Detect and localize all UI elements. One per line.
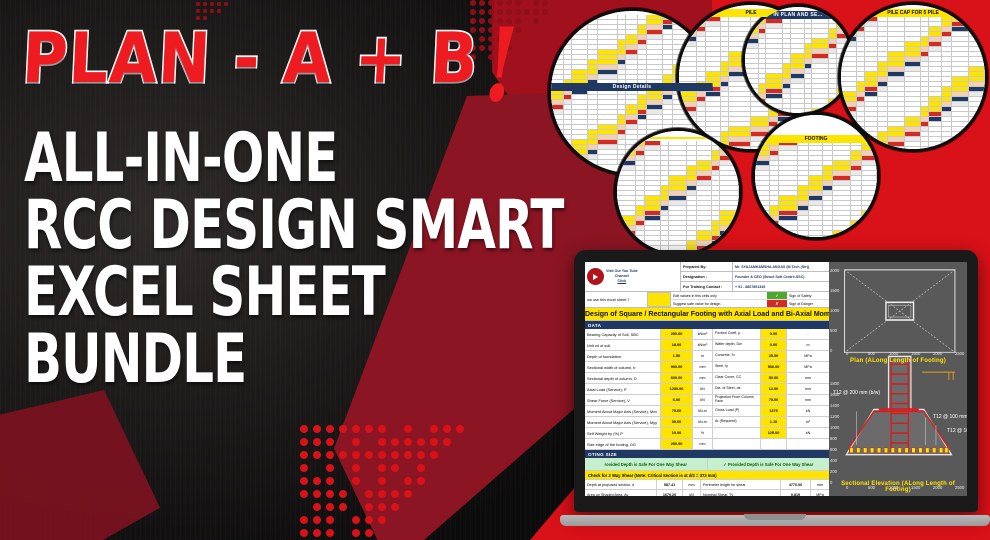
row-value[interactable]: 1.50 — [661, 351, 693, 361]
safety-label: Sign of Safety — [787, 294, 811, 298]
table-row: Axial Load (Service), P1250.00kNDia. of … — [585, 384, 829, 395]
shear-unit-2: mm — [811, 480, 829, 489]
note-legend: Edit values in this cells only Suggest s… — [671, 292, 767, 307]
row-value-2[interactable]: 125.00 — [761, 428, 787, 438]
row-value[interactable]: 1250.00 — [661, 384, 693, 394]
row-label-2: Concrete, f'c — [713, 351, 761, 361]
row-unit: % — [693, 428, 713, 438]
shear-value: 1679.20 — [657, 490, 683, 496]
row-label-2: Projection From Column Face — [713, 395, 761, 405]
table-row: Sectional width of column, b900.00mmStee… — [585, 362, 829, 373]
worksheet-title: Design of Square / Rectangular Footing w… — [585, 308, 829, 321]
table-row: Unit wt of soil,18.00kN/m³Water depth, D… — [585, 340, 829, 351]
table-row: For Training Contact : + 91 - 8807891345 — [681, 282, 829, 291]
row-unit: mm — [693, 373, 713, 383]
row-label-2: Friction Coeff, μ — [713, 329, 761, 339]
title-line-3: EXCEL SHEET — [24, 261, 488, 325]
axis-tick: 200 — [830, 469, 837, 474]
thumbnail-in-plan-section: IN PLAN AND SE... — [742, 4, 854, 116]
row-label-2: Gross Load (P) — [713, 406, 761, 416]
row-label: Size edge of the footing, DG — [585, 439, 661, 449]
youtube-icon — [587, 268, 604, 285]
row-label-2: Dia. of Steel, ds — [713, 384, 761, 394]
row-label: Unit wt of soil, — [585, 340, 661, 350]
row-value-2[interactable] — [761, 439, 787, 449]
row-label: Self Weight by (%) P — [585, 428, 661, 438]
row-value[interactable]: 30.00 — [661, 417, 693, 427]
axis-tick: 800 — [830, 436, 837, 441]
section-header-footing-size: OTING SIZE — [585, 450, 829, 458]
status-badge: ✓ Provided Depth is Safe For One Way She… — [708, 458, 830, 470]
table-row: Designation : Founder & CEO (Struct Soft… — [681, 272, 829, 282]
axis-tick: 1000 — [830, 425, 839, 430]
row-value[interactable]: 10.00 — [661, 428, 693, 438]
check-icon: ✓ — [767, 292, 787, 299]
table-row: Depth of foundation1.50mConcrete, f'c25.… — [585, 351, 829, 362]
row-value[interactable]: 900.00 — [661, 362, 693, 372]
row-label: Axial Load (Service), P — [585, 384, 661, 394]
row-value-2[interactable]: 1375 — [761, 406, 787, 416]
section-header-data: DATA — [585, 321, 829, 329]
row-label-2 — [713, 428, 761, 438]
danger-label: Sign of Danger — [787, 302, 813, 306]
axis-tick: 2000 — [933, 485, 942, 490]
row-label-2: Steel, fy — [713, 362, 761, 372]
axis-tick: 1500 — [830, 288, 839, 293]
youtube-promo-cell[interactable]: Visit Our You Tube Channel Click — [585, 262, 681, 291]
table-row: Moment About Major Axis (Service), Myy30… — [585, 417, 829, 428]
row-unit-2: mm — [787, 373, 829, 383]
row-value[interactable]: 6.00 — [661, 395, 693, 405]
headline-plan-ab: PLAN - A + B — [21, 24, 480, 93]
plan-label: Plan (ALong Length of Footing) — [829, 358, 967, 364]
shear-label: Area on Shaded Area, Av — [585, 490, 657, 496]
axis-tick: 2500 — [955, 351, 964, 356]
row-value-2[interactable]: 50.00 — [761, 373, 787, 383]
axis-tick: 0 — [846, 351, 848, 356]
usage-question: ow use this excel sheet ? — [585, 292, 647, 307]
row-value-2[interactable]: 0.00 — [761, 340, 787, 350]
row-label: Bearing Capacity of Soil, SBC — [585, 329, 661, 339]
danger-legend: ✗ Sign of Danger — [767, 300, 829, 307]
excel-header-row: Visit Our You Tube Channel Click Prepare… — [585, 262, 829, 292]
shear-value-2: 4770.00 — [781, 480, 811, 489]
row-value-2[interactable]: 12.00 — [761, 384, 787, 394]
axis-tick: 2500 — [955, 485, 964, 490]
row-label: Sectional depth of column, D — [585, 373, 661, 383]
table-row: Depth at proposed section, d587.41mmPeri… — [585, 480, 829, 490]
prepared-by-label: Prepared By: — [681, 262, 733, 271]
shear-label: Depth at proposed section, d — [585, 480, 657, 489]
rebar-note-2: T12 @ 100 mm — [933, 414, 967, 420]
row-label-2: Clear Cover, CC — [713, 373, 761, 383]
designation-label: Designation : — [681, 272, 733, 281]
row-value-2[interactable]: 1.10 — [761, 417, 787, 427]
input-data-table[interactable]: Bearing Capacity of Soil, SBC250.00kN/m²… — [585, 329, 829, 450]
row-value-2[interactable]: 25.00 — [761, 351, 787, 361]
row-unit-2: kN — [787, 428, 829, 438]
table-row: Sectional depth of column, D600.00mmClea… — [585, 373, 829, 384]
cad-drawing-pane: Plan (ALong Length of Footing) Sectional… — [829, 262, 967, 496]
laptop-screen: Visit Our You Tube Channel Click Prepare… — [585, 262, 967, 496]
row-value[interactable]: 18.00 — [661, 340, 693, 350]
shear-unit: mm — [683, 480, 701, 489]
contact-label: For Training Contact : — [681, 282, 733, 291]
axis-tick: 1000 — [889, 351, 898, 356]
exclamation-mark: ! — [484, 16, 518, 117]
axis-tick: 1200 — [830, 414, 839, 419]
row-unit: mm — [693, 362, 713, 372]
row-unit: kN/m³ — [693, 340, 713, 350]
row-label: Moment About Major Axis (Service), Mxx — [585, 406, 661, 416]
table-row: Area on Shaded Area, Av1679.20kNNominal … — [585, 490, 829, 496]
excel-worksheet[interactable]: Visit Our You Tube Channel Click Prepare… — [585, 262, 829, 496]
row-unit-2: m — [787, 340, 829, 350]
laptop-lid: Visit Our You Tube Channel Click Prepare… — [574, 250, 978, 512]
editable-cell-swatch[interactable] — [647, 292, 671, 307]
axis-tick: 0 — [830, 480, 832, 485]
axis-tick: 500 — [868, 351, 875, 356]
laptop-trackpad-notch — [744, 514, 806, 520]
axis-tick: 1000 — [889, 485, 898, 490]
axis-tick: 500 — [830, 328, 837, 333]
thumbnail-bottom-center — [614, 128, 742, 256]
row-value[interactable]: 250.00 — [661, 329, 693, 339]
row-unit: mm — [693, 439, 713, 449]
row-label-2: Water depth, Dw — [713, 340, 761, 350]
axis-tick: 600 — [830, 447, 837, 452]
axis-tick: 500 — [868, 485, 875, 490]
row-unit-2: MPa — [787, 362, 829, 372]
halftone-dots-bottom — [300, 425, 490, 540]
row-unit: kN-m — [693, 417, 713, 427]
axis-tick: 0 — [830, 348, 832, 353]
promotional-banner: PLAN - A + B ! ALL-IN-ONE RCC DESIGN SMA… — [0, 0, 990, 540]
row-unit: kN — [693, 384, 713, 394]
status-badge: rovided Depth is Safe For One Way Shear — [585, 458, 708, 470]
prepared-by-block: Prepared By: Mr. SYAJAMKAMSHA ANGAS (M.T… — [681, 262, 829, 291]
row-unit: m — [693, 351, 713, 361]
designation-value: Founder & CEO (Struct Soft Centre-SSC) — [733, 275, 829, 279]
shear-unit: kN — [683, 490, 701, 496]
row-value-2[interactable]: 0.00 — [761, 329, 787, 339]
two-way-shear-header: Check for 2 Way Shear (Note: Critical Se… — [585, 471, 829, 480]
row-value[interactable]: 75.00 — [661, 406, 693, 416]
contact-value: + 91 - 8807891345 — [733, 285, 829, 289]
row-label-2: Ar (Required) — [713, 417, 761, 427]
row-value[interactable]: 250.00 — [661, 439, 693, 449]
safety-legend: ✓ Sign of Safety — [767, 292, 829, 300]
axis-tick: 0 — [846, 485, 848, 490]
youtube-click-link[interactable]: Click — [606, 279, 638, 284]
table-row: Prepared By: Mr. SYAJAMKAMSHA ANGAS (M.T… — [681, 262, 829, 272]
row-label: Moment About Major Axis (Service), Myy — [585, 417, 661, 427]
row-unit-2: - — [787, 329, 829, 339]
row-value-2[interactable]: 75.00 — [761, 395, 787, 405]
axis-tick: 1400 — [830, 403, 839, 408]
row-value[interactable]: 600.00 — [661, 373, 693, 383]
axis-tick: 1500 — [911, 485, 920, 490]
row-unit: kN — [693, 395, 713, 405]
axis-tick: 1500 — [911, 351, 920, 356]
axis-tick: 2000 — [830, 268, 839, 273]
shear-unit-2: MPa — [811, 490, 829, 496]
row-unit: kN-m — [693, 406, 713, 416]
row-unit-2: MPa — [787, 351, 829, 361]
axis-tick: 1800 — [830, 381, 839, 386]
axis-tick: 2000 — [933, 351, 942, 356]
table-row: Shear Force (Service), V6.00kNProjection… — [585, 395, 829, 406]
shear-value-2: 0.819 — [781, 490, 811, 496]
row-unit-2 — [787, 439, 829, 449]
cad-svg — [829, 262, 967, 496]
rebar-note-3: T12 @ 100 — [947, 428, 967, 434]
table-row: Bearing Capacity of Soil, SBC250.00kN/m²… — [585, 329, 829, 340]
row-label: Depth of foundation — [585, 351, 661, 361]
one-way-shear-status-row: rovided Depth is Safe For One Way Shear … — [585, 458, 829, 471]
axis-tick: 400 — [830, 458, 837, 463]
row-unit-2: mm — [787, 395, 829, 405]
usage-note-row: ow use this excel sheet ? Edit values in… — [585, 292, 829, 308]
row-unit-2: m² — [787, 417, 829, 427]
shear-label-2: Perimeter length for shear — [701, 480, 781, 489]
table-row: Moment About Major Axis (Service), Mxx75… — [585, 406, 829, 417]
row-label: Sectional width of column, b — [585, 362, 661, 372]
prepared-by-value: Mr. SYAJAMKAMSHA ANGAS (M.Tech (Str)) — [733, 265, 829, 269]
cross-icon: ✗ — [767, 300, 787, 307]
sign-legend: ✓ Sign of Safety ✗ Sign of Danger — [767, 292, 829, 307]
title-line-4: BUNDLE — [24, 328, 488, 392]
laptop-mockup: Visit Our You Tube Channel Click Prepare… — [560, 250, 990, 540]
title-line-1: ALL-IN-ONE — [24, 127, 488, 191]
row-unit: kN/m² — [693, 329, 713, 339]
row-label: Shear Force (Service), V — [585, 395, 661, 405]
row-value-2[interactable]: 500.00 — [761, 362, 787, 372]
two-way-shear-table: Depth at proposed section, d587.41mmPeri… — [585, 480, 829, 496]
row-unit-2: kN — [787, 406, 829, 416]
title-block: ALL-IN-ONE RCC DESIGN SMART EXCEL SHEET … — [24, 131, 564, 399]
table-row: Size edge of the footing, DG250.00mm — [585, 439, 829, 450]
row-label-2 — [713, 439, 761, 449]
rebar-note-1: T12 @ 200 mm (b/w) — [833, 390, 880, 396]
axis-tick: 1000 — [830, 308, 839, 313]
shear-value: 587.41 — [657, 480, 683, 489]
table-row: Self Weight by (%) P10.00%125.00kN — [585, 428, 829, 439]
title-line-2: RCC DESIGN SMART — [24, 194, 488, 258]
note-line-2: Suggest safe value for design — [671, 300, 767, 307]
row-unit-2: mm — [787, 384, 829, 394]
shear-label-2: Nominal Shear, Tv — [701, 490, 781, 496]
thumbnail-footing: FOOTING — [752, 112, 880, 240]
note-line-1: Edit values in this cells only — [671, 292, 767, 300]
